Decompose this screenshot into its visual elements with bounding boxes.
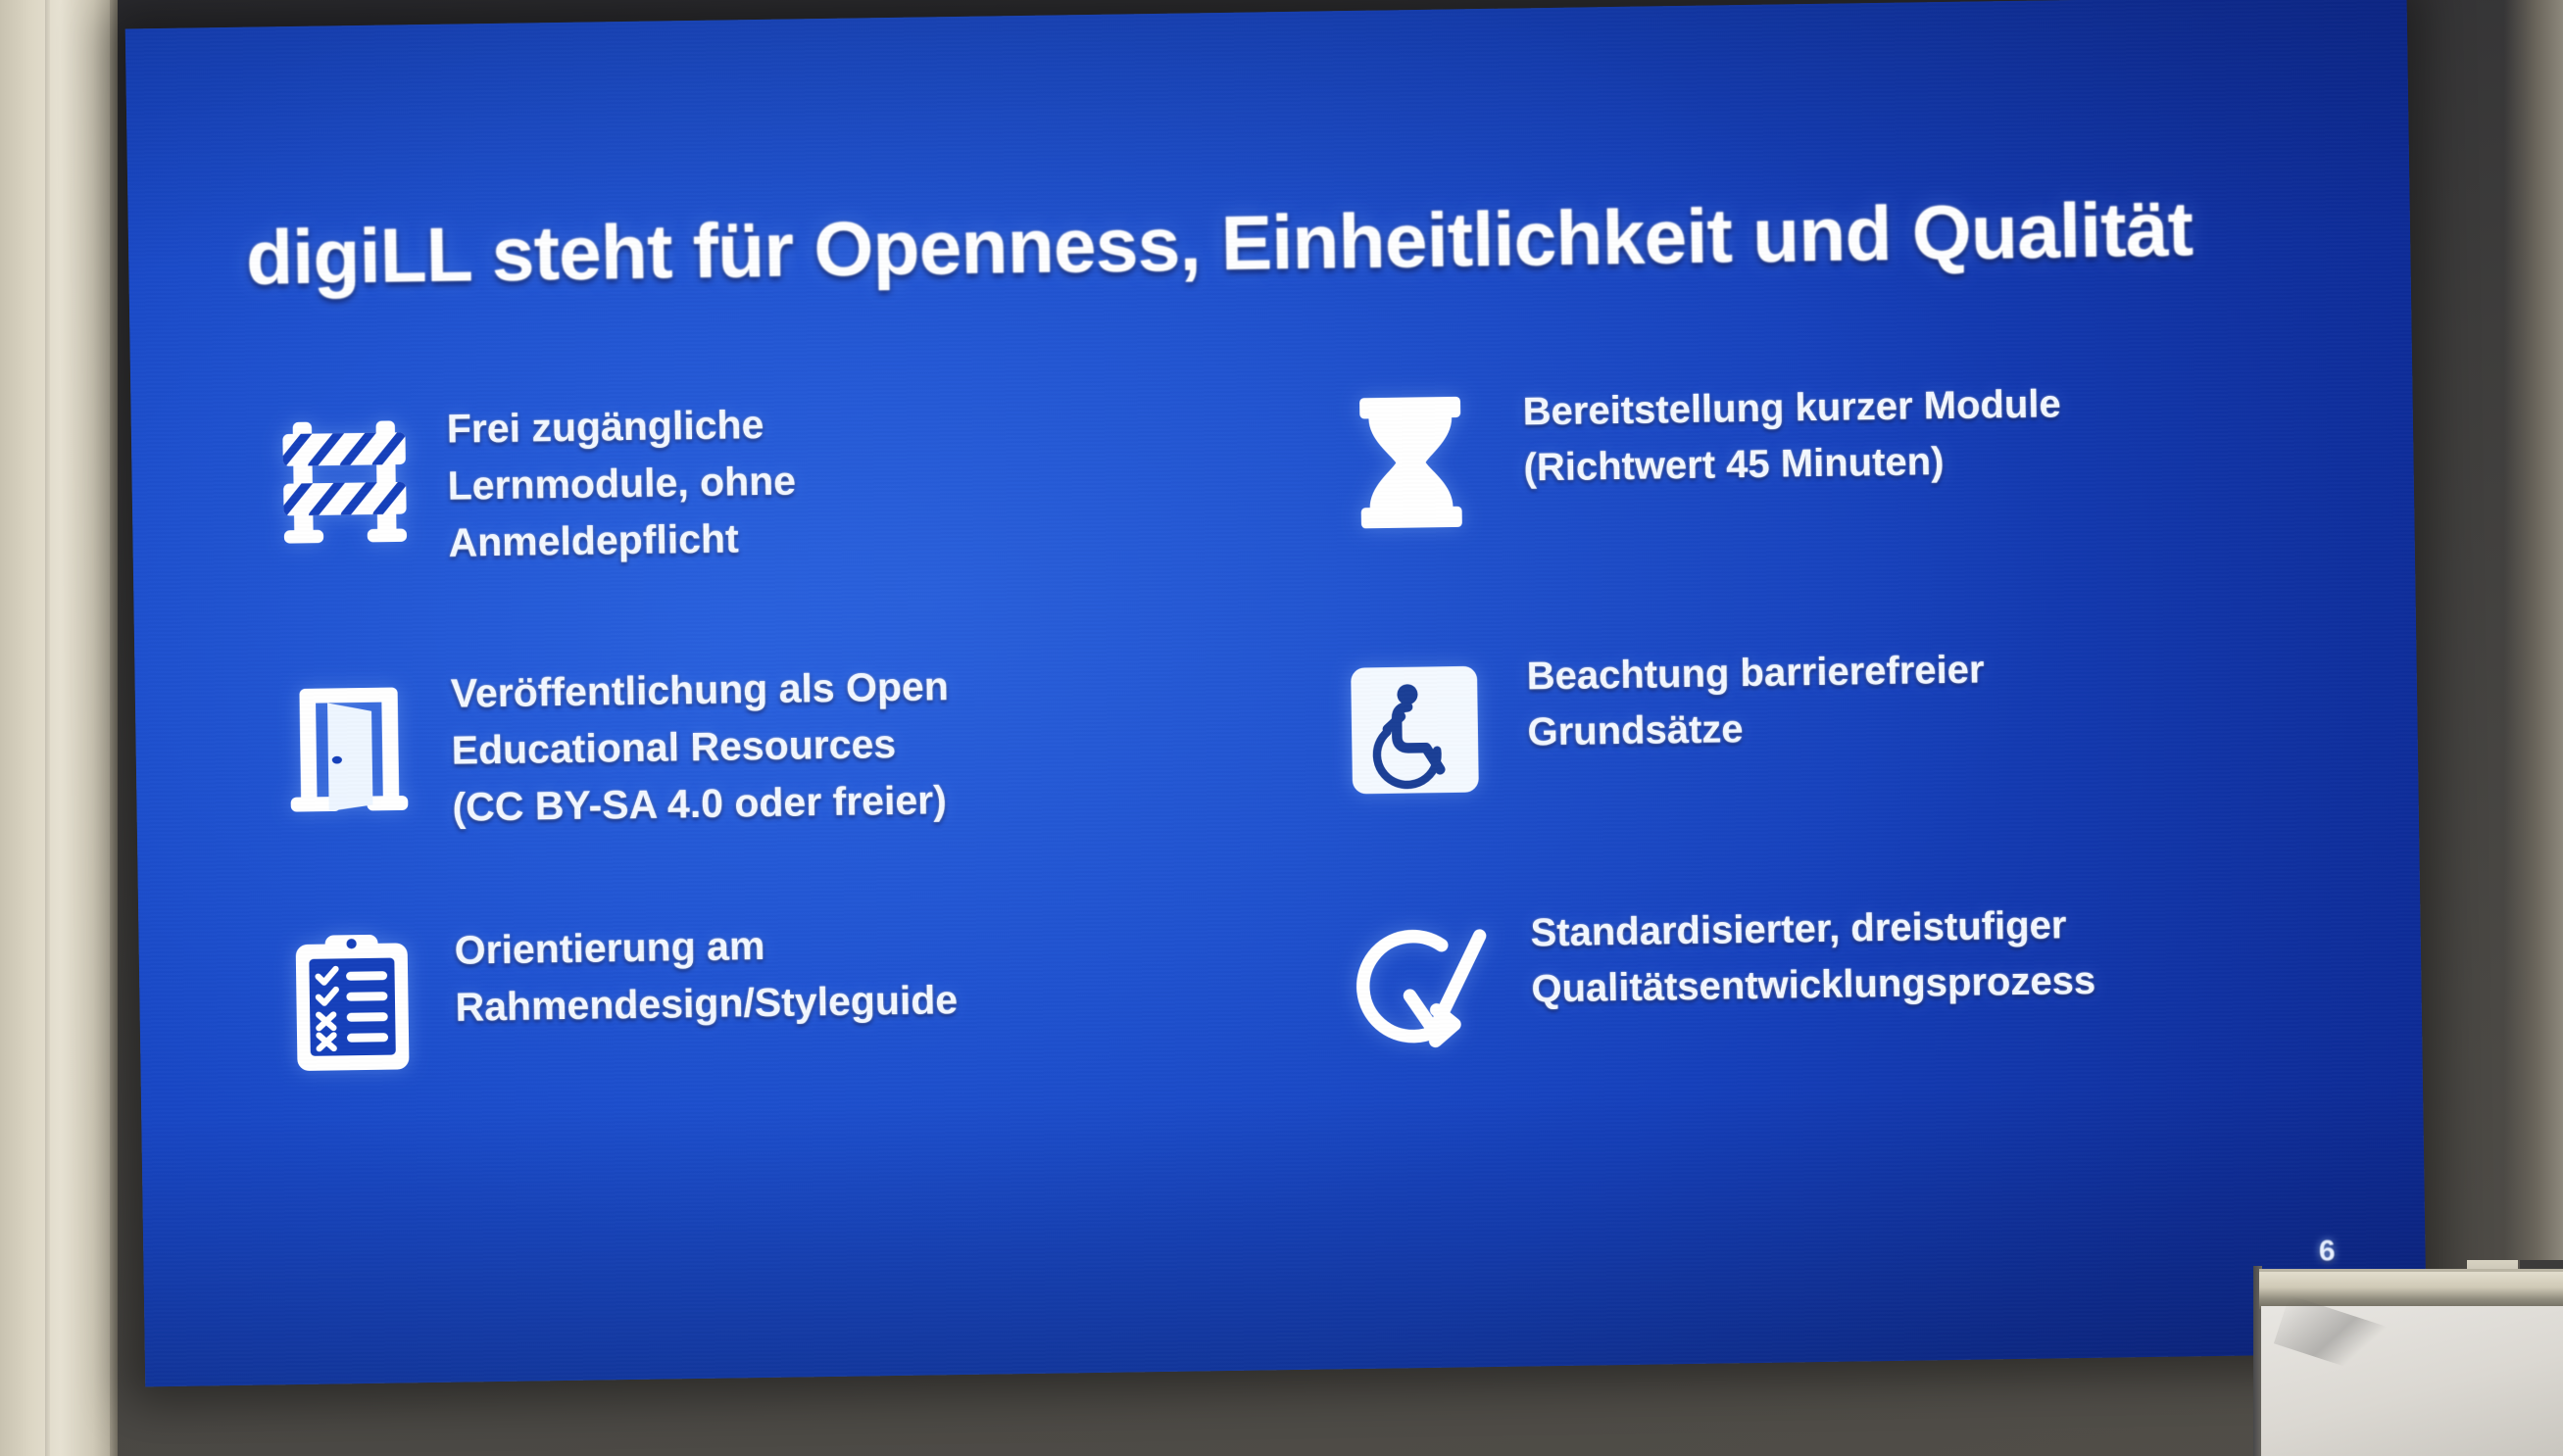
feature-grid: Frei zugängliche Lernmodule, ohne Anmeld… bbox=[240, 359, 2339, 1156]
feature-item-label: Beachtung barrierefreier Grundsätze bbox=[1526, 628, 1986, 760]
flipchart-board bbox=[2249, 1260, 2563, 1456]
wall-left-strip bbox=[0, 0, 110, 1456]
feature-item-veroeffentlichung-oer: Veröffentlichung als Open Educational Re… bbox=[244, 639, 1279, 911]
room-scene: digiLL steht für Openness, Einheitlichke… bbox=[0, 0, 2563, 1456]
hourglass-icon bbox=[1297, 370, 1525, 559]
feature-item-label: Veröffentlichung als Open Educational Re… bbox=[450, 644, 951, 836]
slide-canvas: digiLL steht für Openness, Einheitlichke… bbox=[125, 0, 2427, 1386]
bezel-right-highlight bbox=[2504, 0, 2563, 1456]
feature-item-frei-zugaengliche-lernmodule: Frei zugängliche Lernmodule, ohne Anmeld… bbox=[240, 374, 1275, 655]
feature-item-label: Standardisierter, dreistufiger Qualitäts… bbox=[1530, 884, 2096, 1017]
feature-item-barrierefreiheit: Beachtung barrierefreier Grundsätze bbox=[1301, 623, 2336, 896]
feature-item-label: Bereitstellung kurzer Module (Richtwert … bbox=[1522, 363, 2062, 496]
clipboard-checklist-icon bbox=[248, 908, 457, 1097]
projected-slide: digiLL steht für Openness, Einheitlichke… bbox=[125, 0, 2427, 1386]
wheelchair-accessibility-icon bbox=[1301, 635, 1529, 824]
flipchart-paper bbox=[2261, 1306, 2563, 1456]
barrier-icon bbox=[240, 387, 449, 576]
feature-item-bereitstellung-kurzer-module: Bereitstellung kurzer Module (Richtwert … bbox=[1297, 359, 2332, 639]
feature-item-qualitaetsentwicklungsprozess: Standardisierter, dreistufiger Qualitäts… bbox=[1305, 880, 2340, 1141]
quality-cycle-check-icon bbox=[1305, 892, 1533, 1081]
feature-item-rahmendesign-styleguide: Orientierung am Rahmendesign/Styleguide bbox=[248, 896, 1283, 1156]
open-door-icon bbox=[244, 652, 453, 841]
slide-title: digiLL steht für Openness, Einheitlichke… bbox=[246, 188, 2305, 299]
feature-item-label: Frei zugängliche Lernmodule, ohne Anmeld… bbox=[446, 381, 797, 571]
feature-item-label: Orientierung am Rahmendesign/Styleguide bbox=[454, 900, 958, 1036]
